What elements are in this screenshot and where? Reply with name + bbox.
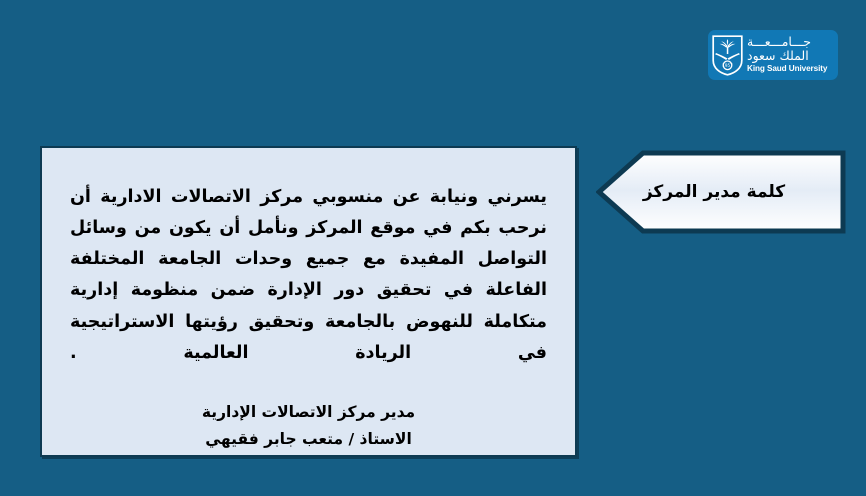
slide-canvas: جـــامـــعـــة الملك سعود King Saud Univ… [0,0,866,496]
signature-block: مدير مركز الاتصالات الإدارية الاستاذ / م… [66,399,551,452]
signature-title: مدير مركز الاتصالات الإدارية [66,399,551,426]
center-director-word-banner[interactable]: كلمة مدير المركز [596,150,846,262]
logo-english-name: King Saud University [747,65,827,73]
king-saud-university-logo[interactable]: جـــامـــعـــة الملك سعود King Saud Univ… [708,30,838,80]
welcome-paragraph: يسرني ونيابة عن منسوبي مركز الاتصالات ال… [66,182,551,369]
banner-arrow-shape [596,150,846,234]
shield-palm-swords-emblem: 1957 [712,35,743,76]
banner-reflection-fade [596,234,846,282]
logo-wordmark: جـــامـــعـــة الملك سعود King Saud Univ… [743,36,832,73]
logo-arabic-line-2: الملك سعود [747,50,809,63]
director-message-box: يسرني ونيابة عن منسوبي مركز الاتصالات ال… [40,146,577,457]
signature-name: الاستاذ / متعب جابر فقيهي [66,426,551,453]
svg-text:1957: 1957 [722,63,733,68]
banner-reflection [596,234,846,282]
